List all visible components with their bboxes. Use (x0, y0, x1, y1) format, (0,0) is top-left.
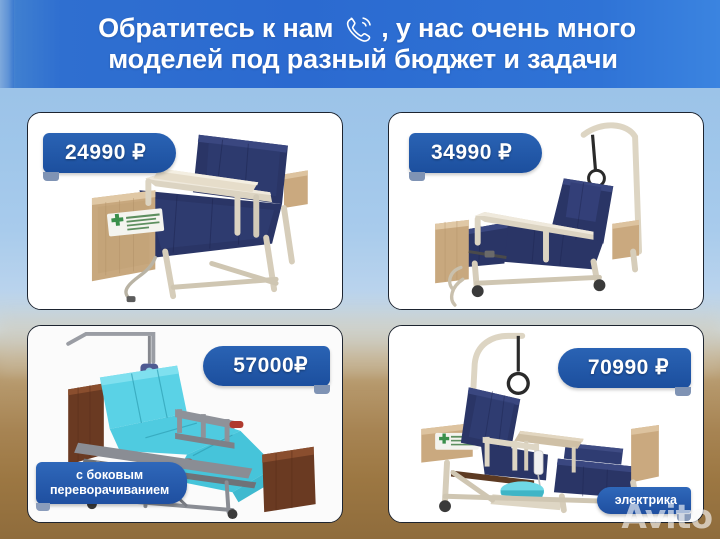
header-text-after: , у нас очень много (381, 13, 636, 44)
price-badge-bed-3: 57000₽ (203, 346, 330, 386)
header-line-1: Обратитесь к нам , у нас очень много (84, 13, 636, 44)
feature-badge-side-turning: с боковым переворачиванием (36, 462, 187, 504)
header-text-before: Обратитесь к нам (98, 13, 333, 44)
feature-badge-line-1: с боковым (50, 468, 169, 483)
product-card-bed-4[interactable]: 70990 ₽ электрика (388, 325, 704, 523)
price-badge-bed-2: 34990 ₽ (409, 133, 542, 173)
feature-badge-electric: электрика (597, 487, 691, 514)
price-badge-bed-4: 70990 ₽ (558, 348, 691, 388)
header-banner: Обратитесь к нам , у нас очень много мод… (0, 0, 720, 88)
product-card-bed-2[interactable]: 34990 ₽ (388, 112, 704, 310)
price-badge-bed-1: 24990 ₽ (43, 133, 176, 173)
product-card-bed-1[interactable]: 24990 ₽ (27, 112, 343, 310)
phone-call-icon (343, 14, 373, 44)
feature-badge-line-2: переворачиванием (50, 483, 169, 498)
product-card-bed-3[interactable]: 57000₽ с боковым переворачиванием (27, 325, 343, 523)
header-line-2: моделей под разный бюджет и задачи (102, 44, 617, 75)
poster-root: Обратитесь к нам , у нас очень много мод… (0, 0, 720, 539)
